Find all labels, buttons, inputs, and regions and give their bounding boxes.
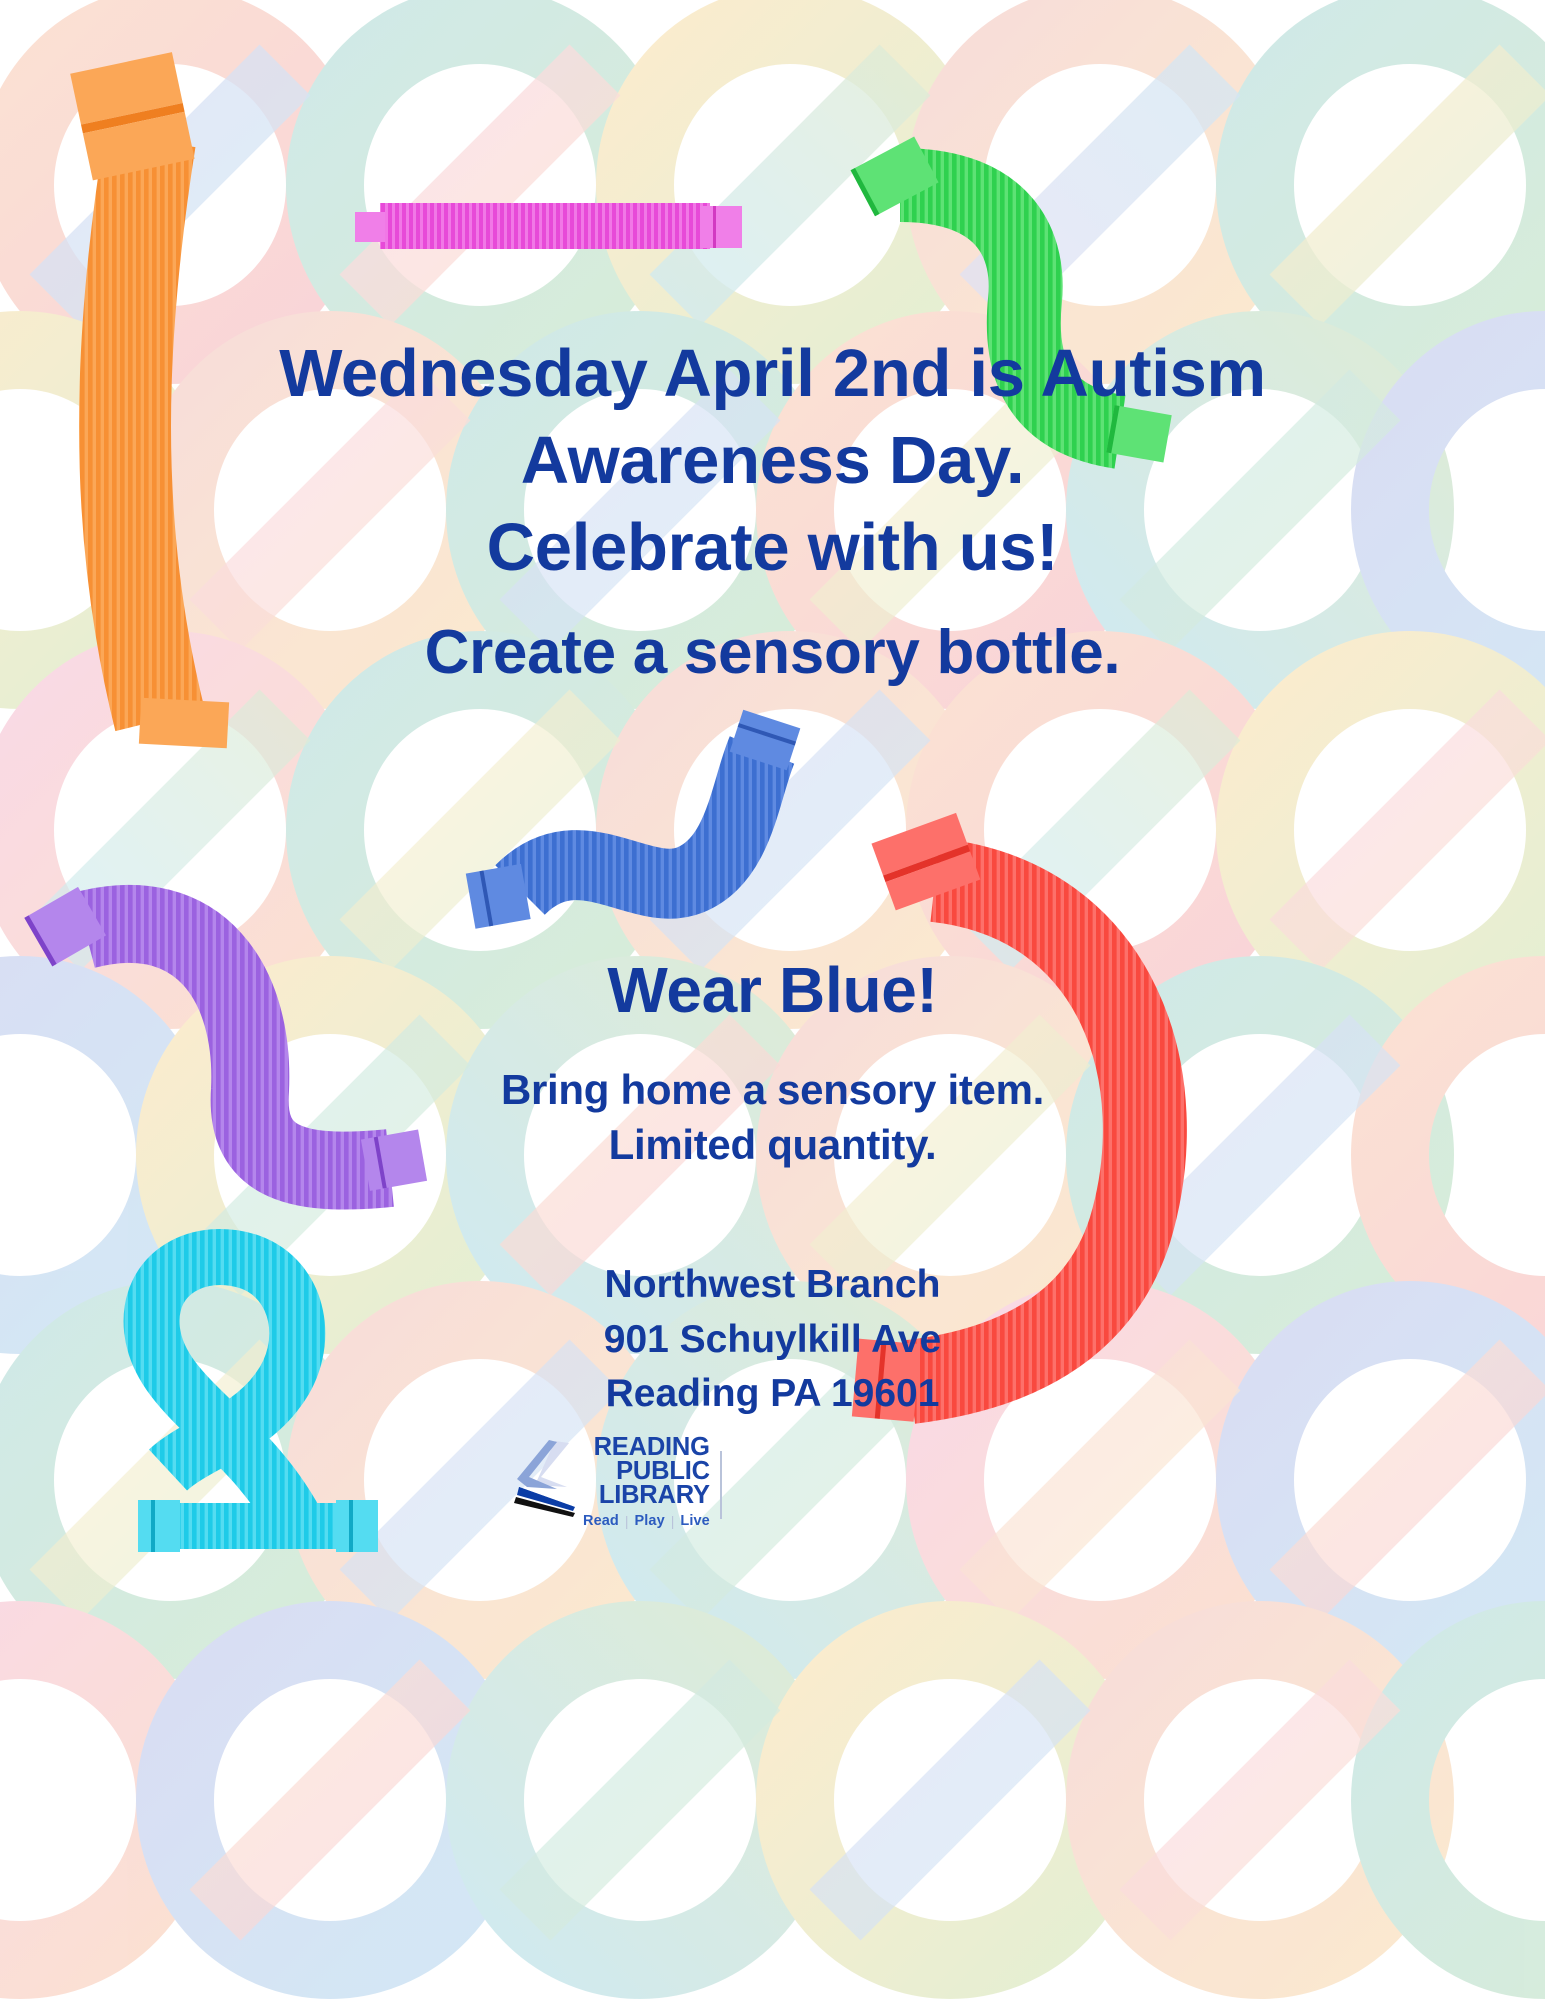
- open-book-icon: [505, 1437, 577, 1523]
- headline-line-3: Celebrate with us!: [0, 504, 1545, 591]
- headline-line-2: Awareness Day.: [0, 417, 1545, 504]
- reading-public-library-logo: READING PUBLIC LIBRARY Read | Play | Liv…: [505, 1415, 755, 1535]
- address-branch: Northwest Branch: [0, 1258, 1545, 1313]
- tagline-play: Play: [635, 1513, 665, 1529]
- tagline-separator-1: |: [625, 1513, 629, 1529]
- notes-line-1: Bring home a sensory item.: [0, 1062, 1545, 1117]
- headline: Wednesday April 2nd is Autism Awareness …: [0, 330, 1545, 591]
- address-block: Northwest Branch 901 Schuylkill Ave Read…: [0, 1258, 1545, 1422]
- headline-line-1: Wednesday April 2nd is Autism: [0, 330, 1545, 417]
- poster-canvas: Wednesday April 2nd is Autism Awareness …: [0, 0, 1545, 2000]
- tagline-read: Read: [583, 1513, 619, 1529]
- notes-line-2: Limited quantity.: [0, 1117, 1545, 1172]
- address-street: 901 Schuylkill Ave: [0, 1313, 1545, 1368]
- notes-block: Bring home a sensory item. Limited quant…: [0, 1062, 1545, 1173]
- tagline-live: Live: [680, 1513, 709, 1529]
- callout-wear-blue: Wear Blue!: [0, 955, 1545, 1027]
- subhead-create-sensory-bottle: Create a sensory bottle.: [0, 618, 1545, 687]
- logo-wordmark: READING PUBLIC LIBRARY Read | Play | Liv…: [583, 1436, 710, 1529]
- address-city-state-zip: Reading PA 19601: [0, 1367, 1545, 1422]
- tagline-separator-2: |: [671, 1513, 675, 1529]
- logo-line-library: LIBRARY: [583, 1484, 710, 1508]
- logo-tagline: Read | Play | Live: [583, 1513, 710, 1529]
- logo-divider-rule: [720, 1451, 722, 1519]
